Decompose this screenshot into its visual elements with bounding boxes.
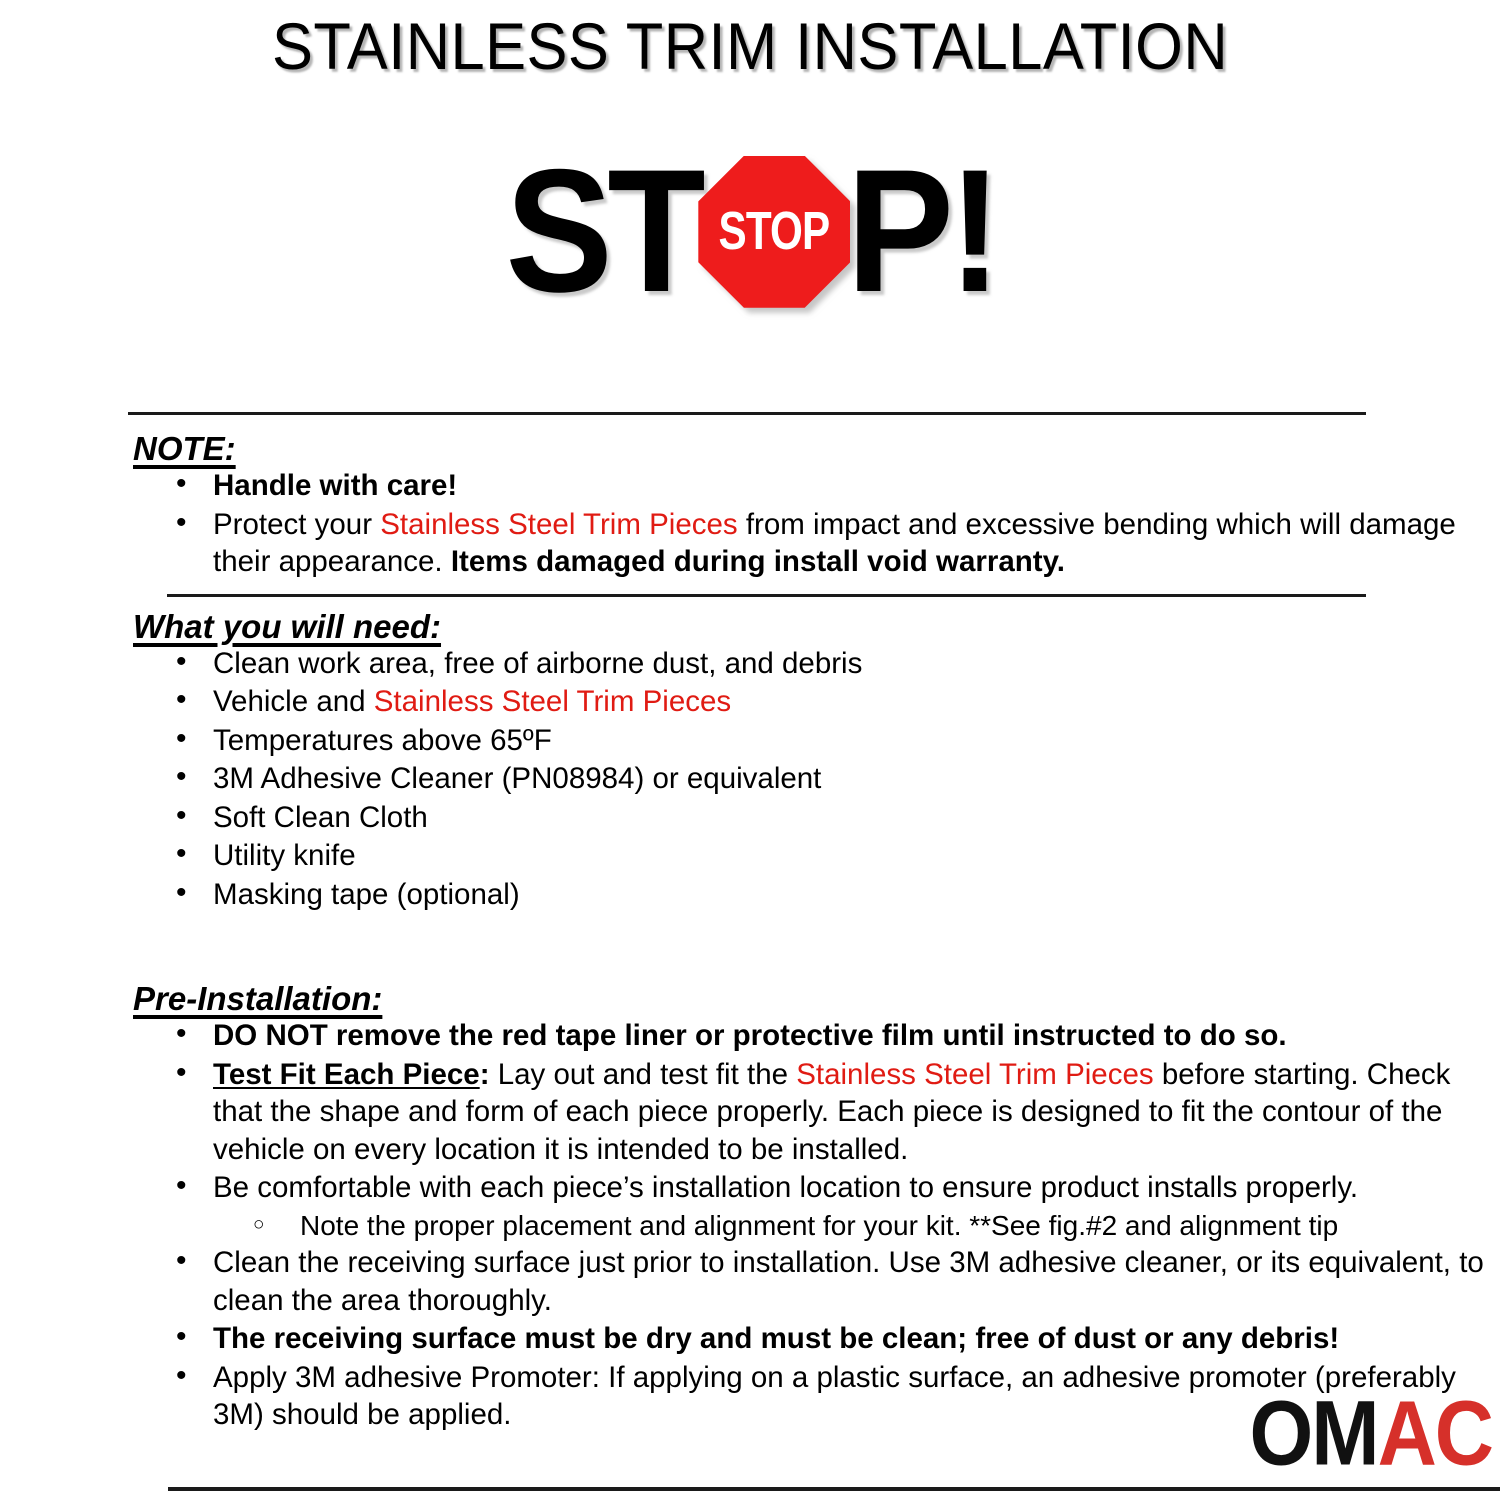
stop-sign-label: STOP	[719, 205, 830, 259]
omac-logo-red-part: AC	[1378, 1383, 1492, 1485]
bullet-text-run: Lay out and test fit the	[490, 1058, 797, 1091]
note-bullet-list: Handle with care!Protect your Stainless …	[0, 467, 1500, 580]
bullet-text-run: 3M Adhesive Cleaner (PN08984) or equival…	[213, 762, 821, 795]
bullet-item: 3M Adhesive Cleaner (PN08984) or equival…	[0, 760, 1500, 797]
bullet-text-run: Clean the receiving surface just prior t…	[213, 1246, 1484, 1316]
bullet-text-run: Temperatures above 65ºF	[213, 724, 552, 757]
pre-installation-bullet-list: DO NOT remove the red tape liner or prot…	[0, 1017, 1500, 1433]
bullet-text-run: Items damaged during install void warran…	[451, 545, 1065, 578]
divider-top	[128, 412, 1366, 415]
bullet-text-run: Vehicle and	[213, 685, 374, 718]
bullet-text-run: DO NOT remove the red tape liner or prot…	[213, 1019, 1287, 1052]
page-title: STAINLESS TRIM INSTALLATION	[272, 12, 1228, 81]
bullet-text-run: :	[480, 1058, 490, 1091]
pre-installation-section: Pre-Installation: DO NOT remove the red …	[0, 981, 1500, 1433]
omac-logo: OMAC	[1249, 1388, 1492, 1480]
bullet-text-run: Test Fit Each Piece	[213, 1058, 480, 1091]
need-bullet-list: Clean work area, free of airborne dust, …	[0, 645, 1500, 913]
stop-logo-area: ST STOP P!	[0, 139, 1500, 324]
omac-logo-dark-part: OM	[1249, 1383, 1377, 1485]
bullet-text-run: Note the proper placement and alignment …	[300, 1210, 1338, 1241]
bullet-text-run: Stainless Steel Trim Pieces	[374, 685, 731, 718]
bullet-text-run: Utility knife	[213, 839, 356, 872]
bullet-item: Temperatures above 65ºF	[0, 722, 1500, 759]
bullet-item: Vehicle and Stainless Steel Trim Pieces	[0, 683, 1500, 720]
sub-bullet-item: Note the proper placement and alignment …	[0, 1208, 1500, 1244]
bullet-text-run: Be comfortable with each piece’s install…	[213, 1171, 1358, 1204]
bullet-text-run: Soft Clean Cloth	[213, 801, 428, 834]
bullet-text-run: Stainless Steel Trim Pieces	[380, 508, 737, 541]
octagon-shape: STOP	[698, 156, 850, 308]
stop-sign-icon: STOP	[698, 156, 850, 308]
bullet-item: Soft Clean Cloth	[0, 799, 1500, 836]
note-heading: NOTE:	[133, 431, 236, 467]
bullet-item: Be comfortable with each piece’s install…	[0, 1169, 1500, 1206]
bullet-text-run: Stainless Steel Trim Pieces	[796, 1058, 1153, 1091]
bullet-item: Clean the receiving surface just prior t…	[0, 1244, 1500, 1319]
pre-installation-heading: Pre-Installation:	[133, 981, 382, 1017]
bullet-item: Protect your Stainless Steel Trim Pieces…	[0, 506, 1500, 581]
bullet-text-run: Masking tape (optional)	[213, 878, 520, 911]
document-body: NOTE: Handle with care!Protect your Stai…	[0, 425, 1500, 1435]
bullet-item: Handle with care!	[0, 467, 1500, 504]
note-section: NOTE: Handle with care!Protect your Stai…	[0, 431, 1500, 581]
bullet-text-run: Protect your	[213, 508, 380, 541]
divider-bottom	[168, 1487, 1500, 1491]
bullet-item: Test Fit Each Piece: Lay out and test fi…	[0, 1056, 1500, 1168]
bullet-item: The receiving surface must be dry and mu…	[0, 1320, 1500, 1357]
bullet-item: Masking tape (optional)	[0, 876, 1500, 913]
bullet-text-run: The receiving surface must be dry and mu…	[213, 1322, 1339, 1355]
bullet-item: Utility knife	[0, 837, 1500, 874]
bullet-item: DO NOT remove the red tape liner or prot…	[0, 1017, 1500, 1054]
stop-logo-left-letters: ST	[505, 144, 700, 319]
title-bar: STAINLESS TRIM INSTALLATION	[0, 0, 1500, 81]
need-section: What you will need: Clean work area, fre…	[0, 609, 1500, 913]
stop-logo: ST STOP P!	[497, 144, 1004, 319]
need-heading: What you will need:	[133, 609, 441, 645]
stop-logo-right-letters: P!	[847, 144, 997, 319]
bullet-text-run: Clean work area, free of airborne dust, …	[213, 647, 862, 680]
bullet-text-run: Handle with care!	[213, 469, 457, 502]
bullet-item: Clean work area, free of airborne dust, …	[0, 645, 1500, 682]
